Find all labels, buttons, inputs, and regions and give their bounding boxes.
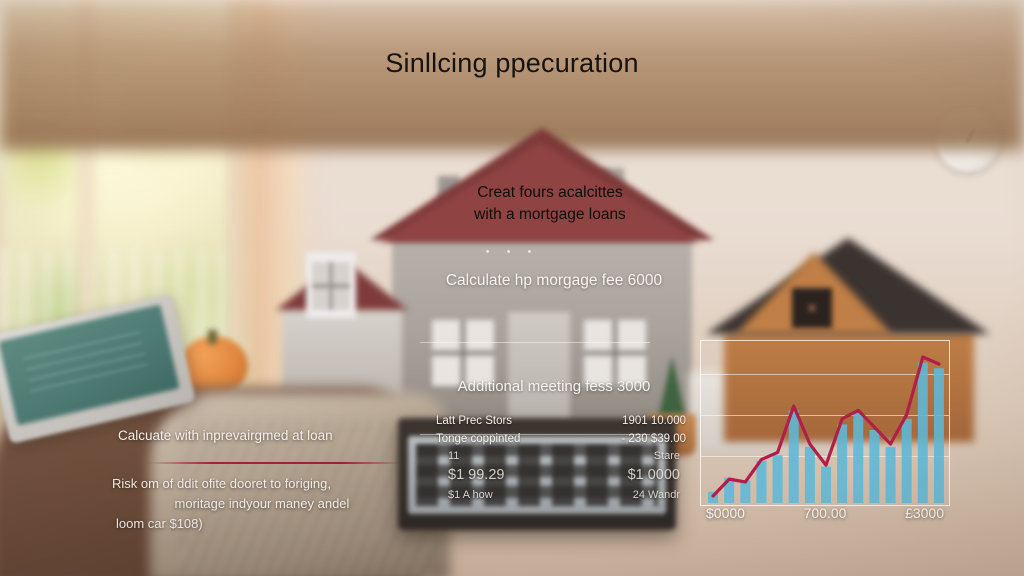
faint-label-0: 11 xyxy=(448,448,459,465)
hero-text-block: Creat fours acalcittes with a mortgage l… xyxy=(400,182,700,227)
growth-chart xyxy=(700,340,950,506)
faint-label-1: $1 99.29 xyxy=(448,465,504,487)
screenshot-root: Sinllcing ppecuration Creat fours acalci… xyxy=(0,0,1024,576)
hero-line-2: with a mortgage loans xyxy=(400,204,700,226)
statement-table: Latt Prec Stors 1901 10.000 Tonge coppin… xyxy=(436,413,686,449)
house-window-right xyxy=(584,320,646,386)
left-panel-accent-rule xyxy=(146,462,406,464)
primary-fee-label: Calculate hp morgage fee 6000 xyxy=(394,272,714,290)
left-body-line-2: moritage indyour maney andel xyxy=(112,494,412,514)
left-panel-body: Risk om of ddit ofite dooret to foriging… xyxy=(112,474,412,534)
chart-canvas xyxy=(701,341,951,507)
left-panel-heading: Calcuate with inprevairgmed at loan xyxy=(118,428,408,443)
separator-dots: • • • xyxy=(0,246,1024,258)
pumpkin-stem xyxy=(208,330,217,344)
table-row: Latt Prec Stors 1901 10.000 xyxy=(436,413,686,431)
house-wing-window-grid xyxy=(312,262,350,310)
faint-label-2: $1 A how xyxy=(448,487,493,504)
chart-x-axis-labels: $0000 700.00 £3000 xyxy=(700,505,952,521)
hero-line-1: Creat fours acalcittes xyxy=(400,182,700,204)
left-body-line-3: loom car $108) xyxy=(112,514,412,534)
statement-label-0: Latt Prec Stors xyxy=(436,413,512,431)
x-tick-1: 700.00 xyxy=(804,505,847,521)
statement-table-faint: 11 Stare $1 99.29 $1 0000 $1 A how 24 Wa… xyxy=(448,448,680,504)
house-front-door xyxy=(508,312,570,422)
divider-upper xyxy=(420,342,650,343)
x-tick-2: £3000 xyxy=(905,505,944,521)
wooden-house-window xyxy=(792,288,832,328)
statement-value-0: 1901 10.000 xyxy=(622,413,686,431)
page-title: Sinllcing ppecuration xyxy=(0,48,1024,79)
house-window-left xyxy=(432,320,494,386)
secondary-fee-label: Additional meeting fess 3000 xyxy=(394,378,714,395)
faint-value-0: Stare xyxy=(654,448,680,465)
faint-value-2: 24 Wandr xyxy=(633,487,680,504)
table-row: 11 Stare xyxy=(448,448,680,465)
table-row: $1 A how 24 Wandr xyxy=(448,487,680,504)
left-body-line-1: Risk om of ddit ofite dooret to foriging… xyxy=(112,474,412,494)
divider-lower xyxy=(420,434,650,435)
x-tick-0: $0000 xyxy=(706,505,745,521)
faint-value-1: $1 0000 xyxy=(628,465,680,487)
table-row: $1 99.29 $1 0000 xyxy=(448,465,680,487)
